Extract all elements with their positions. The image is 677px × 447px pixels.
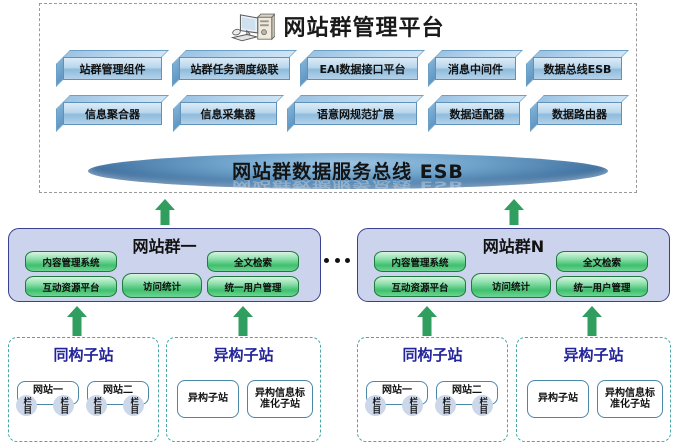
column-circle[interactable]: 栏目 (402, 395, 423, 416)
site-box[interactable]: 异构信息标准化子站 (247, 380, 313, 418)
component-label: 站群管理组件 (63, 57, 162, 80)
arrow-up-cluster1-to-platform (154, 199, 176, 225)
box-top-face (533, 50, 629, 57)
arrow-up-hetero2-to-clusterN (581, 306, 603, 336)
module-interactive-resource[interactable]: 互动资源平台 (25, 276, 117, 297)
site-box[interactable]: 异构子站 (177, 380, 239, 418)
component-row-2: 信息聚合器 信息采集器 语意网规范扩展 数据适配器 数据路由器 (56, 95, 622, 125)
cluster-panel-1: 网站群一 内容管理系统 全文检索 互动资源平台 访问统计 统一用户管理 (8, 228, 321, 302)
component-row-1: 站群管理组件 站群任务调度级联 EAI数据接口平台 消息中间件 数据总线ESB (56, 50, 622, 80)
box-top-face (307, 50, 425, 57)
module-unified-user-mgmt[interactable]: 统一用户管理 (207, 276, 299, 297)
subsite-group-homogeneous-2: 同构子站 网站一 栏目 栏目 网站二 栏目 栏目 (357, 337, 508, 442)
column-circle[interactable]: 栏目 (472, 395, 493, 416)
component-box[interactable]: 信息聚合器 (56, 95, 162, 125)
subsite-group-title: 同构子站 (358, 344, 507, 365)
box-side-face (526, 57, 533, 87)
module-interactive-resource[interactable]: 互动资源平台 (374, 276, 466, 297)
service-bus-ellipse: 网站群数据服务总线 ESB 网站群数据服务总线 ESB (88, 153, 608, 189)
module-visit-stats[interactable]: 访问统计 (122, 273, 202, 298)
component-box[interactable]: 数据总线ESB (526, 50, 622, 80)
computer-icon (231, 12, 275, 46)
column-circle[interactable]: 栏目 (123, 395, 144, 416)
module-fulltext-search[interactable]: 全文检索 (556, 251, 648, 272)
module-cms[interactable]: 内容管理系统 (374, 251, 466, 272)
cluster-ellipsis (324, 258, 350, 263)
component-box[interactable]: 语意网规范扩展 (287, 95, 417, 125)
box-top-face (180, 95, 284, 102)
arrow-up-hetero1-to-cluster1 (232, 306, 254, 336)
component-label: 信息采集器 (180, 102, 277, 125)
service-bus-label: 网站群数据服务总线 ESB (232, 157, 464, 184)
component-label: 数据总线ESB (533, 57, 622, 80)
component-label: 语意网规范扩展 (294, 102, 417, 125)
component-label: 站群任务调度级联 (179, 57, 290, 80)
box-side-face (300, 57, 307, 87)
column-circle[interactable]: 栏目 (53, 395, 74, 416)
box-side-face (56, 102, 63, 132)
component-label: 消息中间件 (435, 57, 516, 80)
component-box[interactable]: 数据路由器 (530, 95, 622, 125)
box-top-face (294, 95, 424, 102)
box-top-face (435, 50, 523, 57)
component-label: 信息聚合器 (63, 102, 162, 125)
site-box[interactable]: 异构子站 (527, 380, 589, 418)
platform-header: 网站群管理平台 (40, 8, 636, 50)
architecture-diagram: 网站群管理平台 站群管理组件 站群任务调度级联 EAI数据接口平台 消息 (0, 0, 677, 447)
column-circle[interactable]: 栏目 (435, 395, 456, 416)
component-label: EAI数据接口平台 (307, 57, 418, 80)
box-top-face (63, 95, 169, 102)
component-box[interactable]: EAI数据接口平台 (300, 50, 418, 80)
subsite-group-title: 同构子站 (9, 344, 158, 365)
column-circle[interactable]: 栏目 (365, 395, 386, 416)
component-box[interactable]: 站群任务调度级联 (172, 50, 290, 80)
box-top-face (537, 95, 629, 102)
subsite-group-heterogeneous-2: 异构子站 异构子站 异构信息标准化子站 (516, 337, 671, 442)
component-box[interactable]: 信息采集器 (173, 95, 277, 125)
box-side-face (287, 102, 294, 132)
box-top-face (63, 50, 169, 57)
column-circle[interactable]: 栏目 (86, 395, 107, 416)
subsite-group-homogeneous-1: 同构子站 网站一 栏目 栏目 网站二 栏目 栏目 (8, 337, 159, 442)
module-cms[interactable]: 内容管理系统 (25, 251, 117, 272)
site-box[interactable]: 异构信息标准化子站 (597, 380, 663, 418)
cluster-panel-n: 网站群N 内容管理系统 全文检索 互动资源平台 访问统计 统一用户管理 (357, 228, 670, 302)
subsite-group-heterogeneous-1: 异构子站 异构子站 异构信息标准化子站 (166, 337, 321, 442)
module-fulltext-search[interactable]: 全文检索 (207, 251, 299, 272)
box-top-face (179, 50, 297, 57)
box-side-face (173, 102, 180, 132)
arrow-up-homo1-to-cluster1 (66, 306, 88, 336)
column-circle[interactable]: 栏目 (16, 395, 37, 416)
platform-title: 网站群管理平台 (283, 18, 444, 40)
box-side-face (428, 57, 435, 87)
box-top-face (435, 95, 527, 102)
box-side-face (172, 57, 179, 87)
component-box[interactable]: 站群管理组件 (56, 50, 162, 80)
module-unified-user-mgmt[interactable]: 统一用户管理 (556, 276, 648, 297)
component-box[interactable]: 数据适配器 (428, 95, 520, 125)
subsite-group-title: 异构子站 (517, 344, 670, 365)
component-label: 数据适配器 (435, 102, 520, 125)
arrow-up-homo2-to-clusterN (416, 306, 438, 336)
ellipsis-dot (345, 258, 350, 263)
component-label: 数据路由器 (537, 102, 622, 125)
ellipsis-dot (324, 258, 329, 263)
component-box[interactable]: 消息中间件 (428, 50, 516, 80)
ellipsis-dot (335, 258, 340, 263)
platform-container: 网站群管理平台 站群管理组件 站群任务调度级联 EAI数据接口平台 消息 (39, 3, 637, 193)
module-visit-stats[interactable]: 访问统计 (471, 273, 551, 298)
arrow-up-clusterN-to-platform (503, 199, 525, 225)
box-side-face (428, 102, 435, 132)
box-side-face (530, 102, 537, 132)
subsite-group-title: 异构子站 (167, 344, 320, 365)
box-side-face (56, 57, 63, 87)
